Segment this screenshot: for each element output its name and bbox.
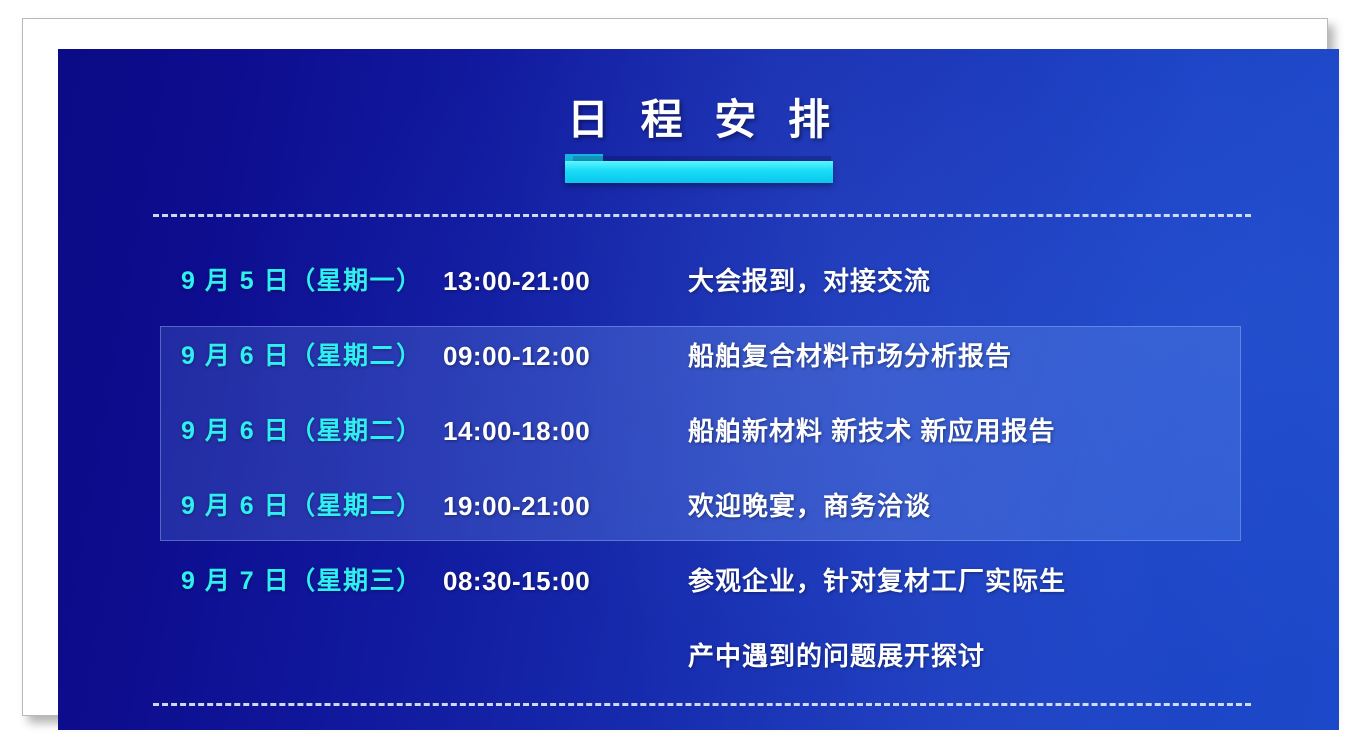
table-row: 9 月 6 日（星期二） 14:00-18:00 船舶新材料 新技术 新应用报告 [58,394,1339,469]
row-time: 13:00-21:00 [443,244,688,319]
row-time: 14:00-18:00 [443,394,688,469]
row-topic-line1: 参观企业，针对复材工厂实际生 [688,566,1066,596]
table-row: 9 月 6 日（星期二） 19:00-21:00 欢迎晚宴，商务洽谈 [58,469,1339,544]
title-underline-bar [565,161,833,183]
row-date: 9 月 6 日（星期二） [58,394,443,469]
row-date: 9 月 7 日（星期三） [58,544,443,619]
table-row: 9 月 7 日（星期三） 08:30-15:00 参观企业，针对复材工厂实际生 … [58,544,1339,694]
row-topic: 船舶新材料 新技术 新应用报告 [688,394,1339,469]
row-time: 08:30-15:00 [443,544,688,619]
row-topic: 参观企业，针对复材工厂实际生 产中遇到的问题展开探讨 [688,544,1339,694]
row-time: 19:00-21:00 [443,469,688,544]
schedule-table: 9 月 5 日（星期一） 13:00-21:00 大会报到，对接交流 9 月 6… [58,244,1339,694]
slide-page: 日 程 安 排 9 月 5 日（星期一） 13:00-21:00 大会报到，对接… [0,0,1352,737]
row-date: 9 月 6 日（星期二） [58,319,443,394]
page-title-wrap: 日 程 安 排 [58,97,1339,143]
table-row: 9 月 6 日（星期二） 09:00-12:00 船舶复合材料市场分析报告 [58,319,1339,394]
slide-canvas: 日 程 安 排 9 月 5 日（星期一） 13:00-21:00 大会报到，对接… [58,49,1339,730]
row-date: 9 月 6 日（星期二） [58,469,443,544]
row-topic: 船舶复合材料市场分析报告 [688,319,1339,394]
page-title: 日 程 安 排 [557,97,840,143]
row-date: 9 月 5 日（星期一） [58,244,443,319]
slide-paper-frame: 日 程 安 排 9 月 5 日（星期一） 13:00-21:00 大会报到，对接… [22,18,1328,716]
row-time: 09:00-12:00 [443,319,688,394]
table-row: 9 月 5 日（星期一） 13:00-21:00 大会报到，对接交流 [58,244,1339,319]
row-topic: 欢迎晚宴，商务洽谈 [688,469,1339,544]
divider-bottom [153,703,1251,706]
divider-top [153,214,1251,217]
row-topic-line2: 产中遇到的问题展开探讨 [688,619,1339,694]
row-topic: 大会报到，对接交流 [688,244,1339,319]
